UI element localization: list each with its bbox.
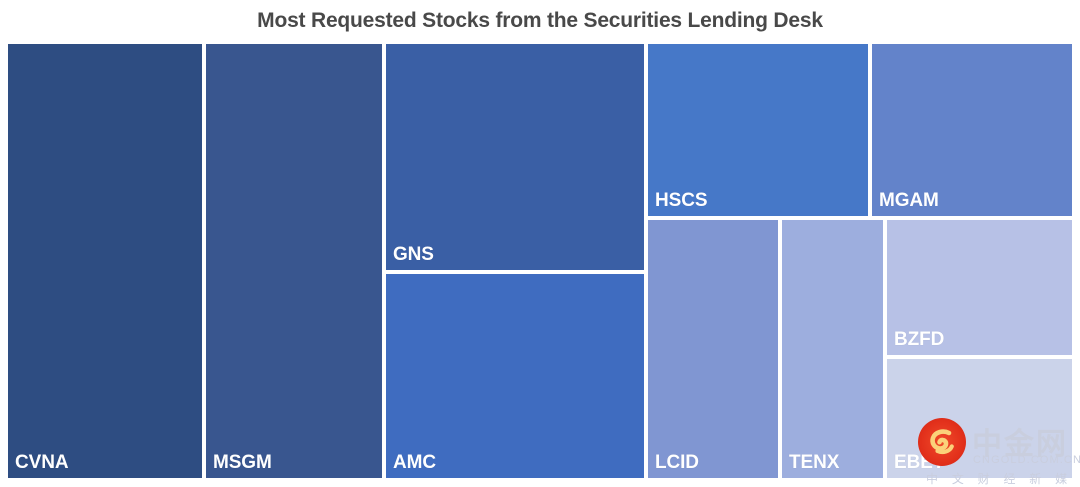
treemap-tile-tenx[interactable]: TENX [780,218,885,480]
treemap-tile-label: BZFD [894,329,944,351]
treemap-tile-label: HSCS [655,190,707,212]
treemap-tile-msgm[interactable]: MSGM [204,42,384,480]
treemap-tile-bzfd[interactable]: BZFD [885,218,1074,357]
treemap-chart-card: Most Requested Stocks from the Securitie… [0,0,1080,487]
treemap-tile-gns[interactable]: GNS [384,42,646,272]
treemap-tile-hscs[interactable]: HSCS [646,42,870,218]
treemap-tile-lcid[interactable]: LCID [646,218,780,480]
treemap-tile-label: MSGM [213,452,272,474]
treemap-tile-label: LCID [655,452,699,474]
treemap-tile-label: EBET [894,452,944,474]
chart-title: Most Requested Stocks from the Securitie… [0,5,1080,37]
treemap-tile-label: TENX [789,452,839,474]
treemap-plot-area: CVNA MSGM GNS AMC HSCS MGAM LCID TENX BZ… [6,42,1074,480]
treemap-tile-cvna[interactable]: CVNA [6,42,204,480]
treemap-tile-label: CVNA [15,452,68,474]
treemap-tile-amc[interactable]: AMC [384,272,646,480]
treemap-tile-mgam[interactable]: MGAM [870,42,1074,218]
treemap-tile-label: GNS [393,244,434,266]
treemap-tile-label: MGAM [879,190,939,212]
treemap-tile-label: AMC [393,452,436,474]
treemap-tile-ebet[interactable]: EBET [885,357,1074,480]
